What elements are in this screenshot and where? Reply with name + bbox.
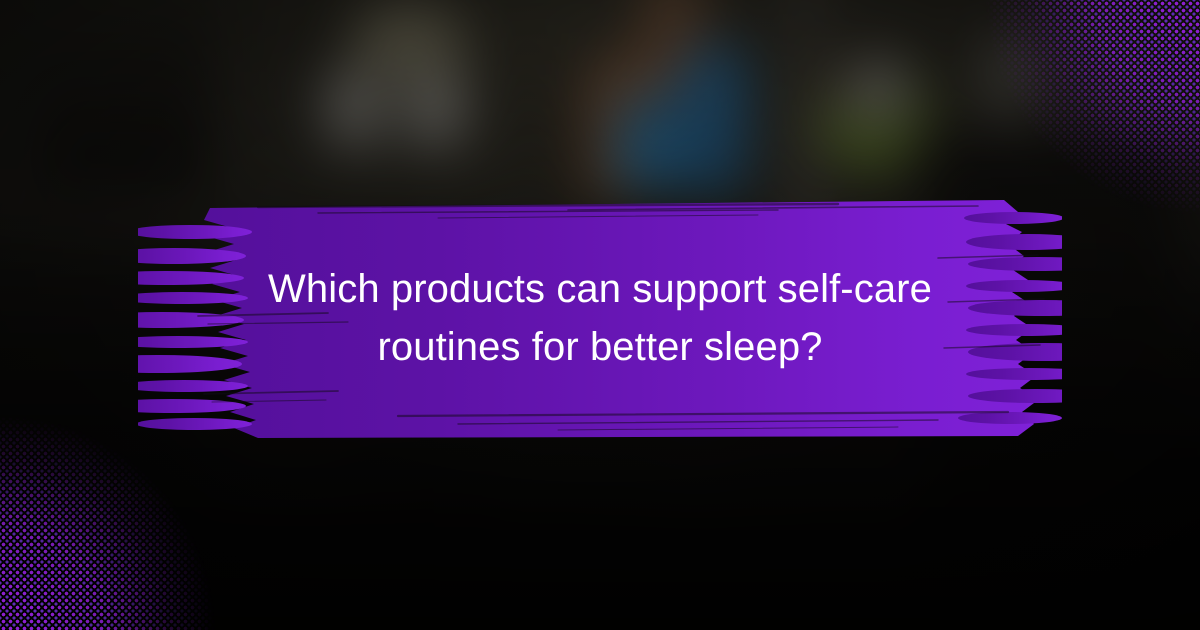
social-card: Which products can support self-care rou… — [0, 0, 1200, 630]
headline-line-2: routines for better sleep? — [377, 318, 822, 376]
headline-line-1: Which products can support self-care — [268, 260, 932, 318]
headline-banner: Which products can support self-care rou… — [138, 198, 1062, 440]
headline-text-block: Which products can support self-care rou… — [138, 198, 1062, 440]
